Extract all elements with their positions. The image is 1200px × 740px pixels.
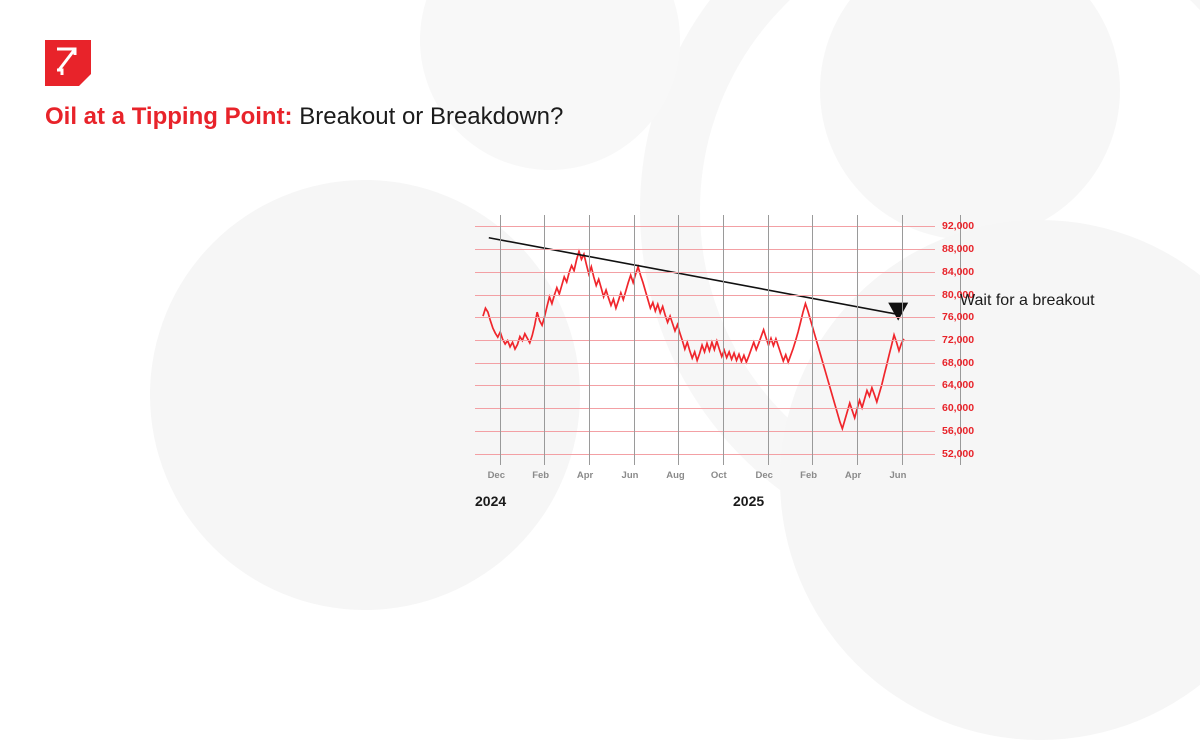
chart-y-tick: 52,000 xyxy=(942,448,974,460)
chart-y-tick: 64,000 xyxy=(942,379,974,391)
chart-y-tick: 60,000 xyxy=(942,402,974,414)
chart-x-tick: Apr xyxy=(845,470,861,481)
chart-gridline-v xyxy=(678,215,679,465)
chart-x-tick: Dec xyxy=(488,470,505,481)
chart-x-tick: Aug xyxy=(666,470,684,481)
chart-x-tick: Feb xyxy=(532,470,549,481)
chart-year-label: 2025 xyxy=(733,493,764,509)
chart-gridline-v xyxy=(723,215,724,465)
chart-gridline-v xyxy=(634,215,635,465)
brand-logo-icon xyxy=(45,40,91,86)
chart-x-tick: Oct xyxy=(711,470,727,481)
chart-y-tick: 84,000 xyxy=(942,266,974,278)
chart-y-tick: 72,000 xyxy=(942,334,974,346)
chart-gridline-v xyxy=(589,215,590,465)
chart-gridline-v xyxy=(902,215,903,465)
chart-x-tick: Jun xyxy=(890,470,907,481)
background-blob-4 xyxy=(420,0,680,170)
chart-y-tick: 56,000 xyxy=(942,425,974,437)
chart-x-tick: Apr xyxy=(577,470,593,481)
price-chart: 52,00056,00060,00064,00068,00072,00076,0… xyxy=(455,205,960,515)
page-title-rest: Breakout or Breakdown? xyxy=(293,103,564,130)
chart-y-tick: 76,000 xyxy=(942,311,974,323)
chart-y-tick: 68,000 xyxy=(942,357,974,369)
chart-year-label: 2024 xyxy=(475,493,506,509)
page-title-accent: Oil at a Tipping Point: xyxy=(45,103,293,130)
chart-x-tick: Dec xyxy=(756,470,773,481)
chart-y-tick: 88,000 xyxy=(942,243,974,255)
chart-gridline-v xyxy=(857,215,858,465)
chart-gridline-v xyxy=(500,215,501,465)
chart-y-tick: 92,000 xyxy=(942,220,974,232)
breakout-annotation: Wait for a breakout xyxy=(960,292,1095,310)
page-title: Oil at a Tipping Point: Breakout or Brea… xyxy=(45,103,563,131)
chart-x-tick: Jun xyxy=(622,470,639,481)
chart-x-tick: Feb xyxy=(800,470,817,481)
chart-gridline-v xyxy=(812,215,813,465)
chart-gridline-v xyxy=(544,215,545,465)
chart-gridline-v xyxy=(768,215,769,465)
